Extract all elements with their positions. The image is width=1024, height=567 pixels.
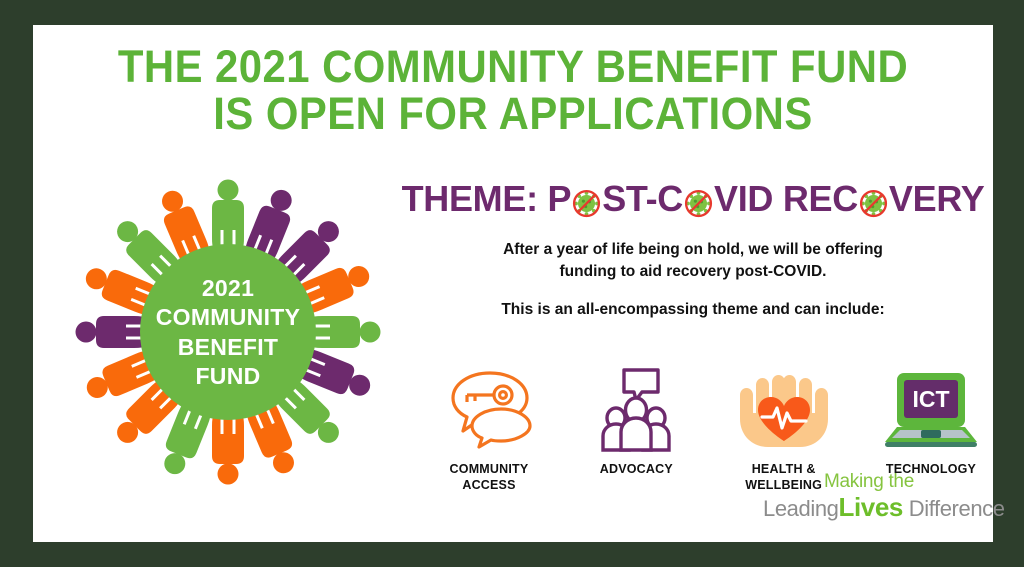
category-technology: ICT TECHNOLOGY <box>867 363 995 477</box>
community-fund-graphic: 2021 COMMUNITY BENEFIT FUND <box>58 160 398 505</box>
poster-panel: THE 2021 COMMUNITY BENEFIT FUND IS OPEN … <box>33 25 993 542</box>
radiating-people-svg <box>58 160 398 505</box>
category-advocacy: ADVOCACY <box>572 363 700 477</box>
body-paragraph-2: This is an all-encompassing theme and ca… <box>403 301 983 319</box>
theme-heading: THEME: P <box>403 173 983 225</box>
theme-text-part-1: THEME: P <box>402 178 572 220</box>
leading-lives-logo: Making the LeadingLives Difference <box>763 472 975 524</box>
page-title: THE 2021 COMMUNITY BENEFIT FUND IS OPEN … <box>67 43 960 138</box>
logo-leading: Leading <box>763 496 839 521</box>
fund-circle <box>140 244 316 420</box>
no-covid-icon <box>571 186 602 217</box>
no-covid-icon <box>858 186 889 217</box>
logo-difference: Difference <box>909 496 1005 521</box>
speech-bubbles-key-icon <box>441 363 537 455</box>
laptop-ict-icon: ICT <box>879 363 983 455</box>
people-group-speech-bubble-icon <box>588 363 684 455</box>
theme-text-part-3: VID REC <box>714 178 858 220</box>
logo-making-the: Making the <box>763 472 975 491</box>
hands-heart-pulse-icon <box>728 363 840 455</box>
logo-wordmark: LeadingLives Difference <box>763 493 975 522</box>
category-label: COMMUNITY ACCESS <box>450 461 529 494</box>
theme-text-part-4: VERY <box>889 178 985 220</box>
laptop-screen-text: ICT <box>912 386 949 412</box>
right-content-column: THEME: P <box>403 173 983 319</box>
category-community-access: COMMUNITY ACCESS <box>425 363 553 494</box>
theme-text-part-2: ST-C <box>602 178 683 220</box>
body-paragraph-1: After a year of life being on hold, we w… <box>403 239 983 284</box>
no-covid-icon <box>683 186 714 217</box>
logo-lives: Lives <box>839 492 904 522</box>
category-label: ADVOCACY <box>600 461 673 477</box>
poster-canvas: THE 2021 COMMUNITY BENEFIT FUND IS OPEN … <box>0 0 1024 567</box>
